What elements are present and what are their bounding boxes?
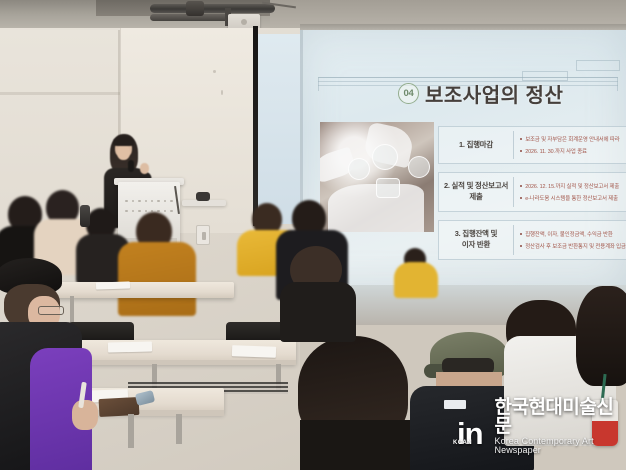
projection-screen: 04 보조사업의 정산 1. 집행마감 보조금 및 자부담은 회계운영 안내서에…: [300, 30, 626, 292]
ceiling-pipe: [150, 4, 275, 13]
vest-logo-patch: [444, 400, 466, 409]
slide-title: 보조사업의 정산: [425, 79, 563, 108]
wall-outlet: [196, 225, 210, 245]
microphone: [128, 160, 134, 172]
presenter-face: [117, 145, 130, 160]
presenter-hand: [140, 163, 149, 174]
slide-row-1-label: 1. 집행마감: [439, 140, 513, 151]
tumbler-bottle: [80, 205, 90, 227]
slide-row-1: 1. 집행마감 보조금 및 자부담은 회계운영 안내서에 따라 2026. 11…: [438, 126, 626, 164]
table-edge: [64, 360, 296, 365]
paper-sheet: [108, 341, 152, 352]
slide-bullet: 보조금 및 자부담은 회계운영 안내서에 따라: [520, 135, 626, 143]
paper-sheet: [96, 281, 130, 289]
slide-row-3: 3. 집행잔액 및 이자 반환 집행잔액, 이자, 불인정금액, 수익금 반환 …: [438, 220, 626, 260]
paper-sheet: [232, 345, 276, 358]
slide-bullet: e-나라도움 시스템을 통한 정산보고서 제출: [520, 194, 626, 202]
shoulders: [300, 420, 412, 470]
hair: [576, 286, 626, 386]
slide-thumbnail-image: [320, 122, 434, 232]
pipe-joint: [186, 1, 204, 16]
slide-row-2: 2. 실적 및 정산보고서 제출 2026. 12. 15.까지 실적 및 정산…: [438, 172, 626, 212]
table-row-3: [56, 282, 234, 298]
drink-cup: [592, 400, 618, 446]
slide-row-3-bullets: 집행잔액, 이자, 불인정금액, 수익금 반환 정산검사 후 보조금 반환통지 …: [514, 230, 626, 250]
shoulders: [280, 282, 356, 342]
eyeglasses: [38, 306, 64, 315]
slide-row-2-bullets: 2026. 12. 15.까지 실적 및 정산보고서 제출 e-나라도움 시스템…: [514, 182, 626, 202]
seminar-photograph: 04 보조사업의 정산 1. 집행마감 보조금 및 자부담은 회계운영 안내서에…: [0, 0, 626, 470]
table-leg: [176, 414, 182, 444]
slide-bullet: 2026. 11. 30.까지 사업 종료: [520, 147, 626, 155]
slide-row-1-bullets: 보조금 및 자부담은 회계운영 안내서에 따라 2026. 11. 30.까지 …: [514, 135, 626, 155]
wall-trim-band: [0, 92, 120, 95]
side-table-item: [196, 192, 210, 201]
table-leg: [128, 414, 134, 448]
slide-row-3-label: 3. 집행잔액 및 이자 반환: [439, 229, 513, 250]
hand: [72, 400, 98, 430]
table-leg: [70, 296, 74, 324]
window-daylight: [258, 34, 302, 224]
slide-row-2-label: 2. 실적 및 정산보고서 제출: [439, 181, 513, 202]
slide-section-badge: 04: [398, 83, 419, 104]
slide-bullet: 집행잔액, 이자, 불인정금액, 수익금 반환: [520, 230, 626, 238]
presenter-fringe: [113, 136, 134, 146]
slide-bullet: 2026. 12. 15.까지 실적 및 정산보고서 제출: [520, 182, 626, 190]
slide-title-row: 04 보조사업의 정산: [398, 79, 563, 108]
slide-bullet: 정산검사 후 보조금 반환통지 및 전용계좌 입금: [520, 242, 626, 250]
